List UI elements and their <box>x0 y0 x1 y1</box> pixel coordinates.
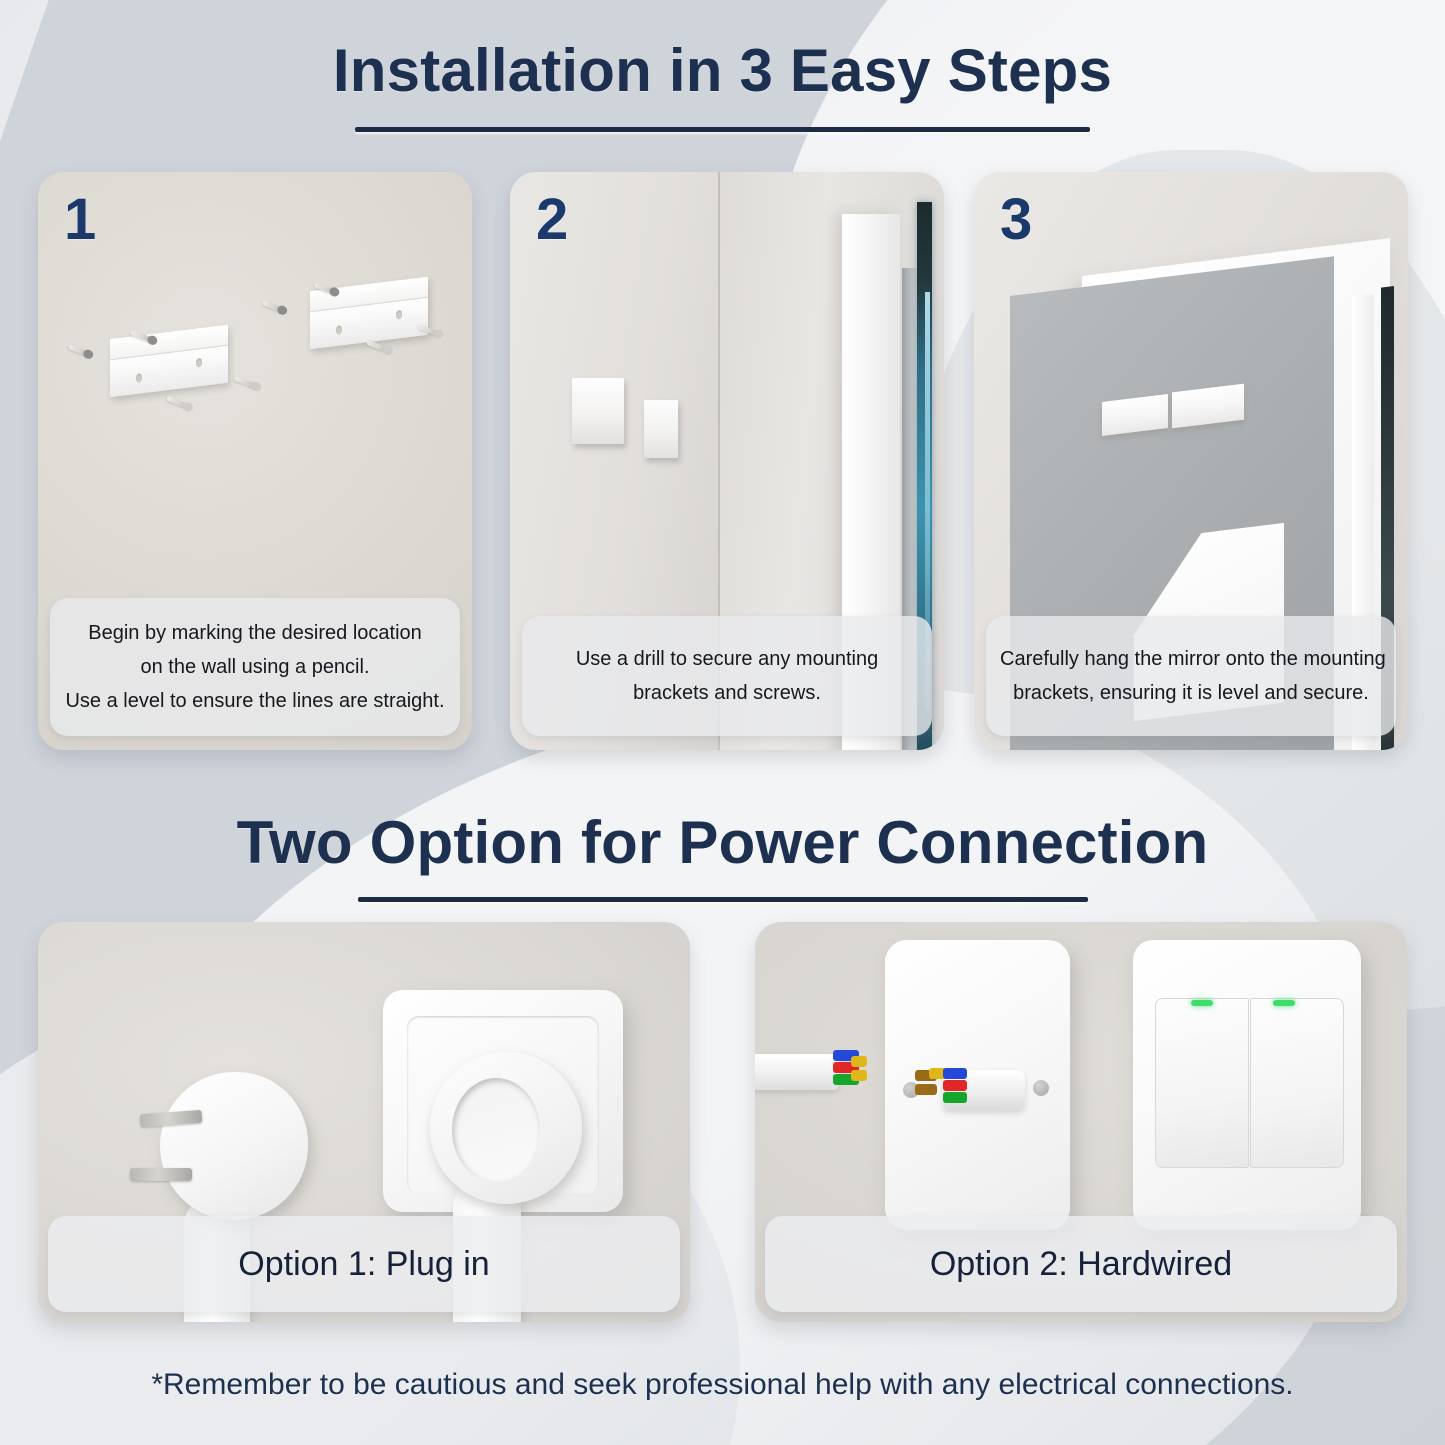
incoming-cable-wires <box>833 1050 863 1092</box>
incoming-cable-sheath <box>755 1054 839 1090</box>
switch-indicator-led-left <box>1191 1000 1213 1006</box>
power-plug <box>160 1072 308 1220</box>
power-title: Two Option for Power Connection <box>0 808 1445 877</box>
junction-box-wires <box>915 1068 945 1110</box>
footer-disclaimer: *Remember to be cautious and seek profes… <box>0 1368 1445 1402</box>
bracket-hole <box>336 325 342 335</box>
step-3-caption-line-1: Carefully hang the mirror onto the mount… <box>1000 642 1382 676</box>
step-2-caption-line-2: brackets and screws. <box>536 676 918 710</box>
step-number-2: 2 <box>536 186 568 253</box>
step-2-caption-line-1: Use a drill to secure any mounting <box>536 642 918 676</box>
option-1-caption-text: Option 1: Plug in <box>238 1245 489 1284</box>
wire-red <box>943 1080 967 1091</box>
step-2-caption: Use a drill to secure any mounting brack… <box>522 616 932 736</box>
step-1-caption-line-3: Use a level to ensure the lines are stra… <box>64 684 446 718</box>
light-switch-rocker-left[interactable] <box>1155 998 1249 1168</box>
step-1-caption: Begin by marking the desired location on… <box>50 598 460 736</box>
wire-yellow <box>851 1070 867 1081</box>
step-card-2: 2 Use a drill to secure any mounting bra… <box>510 172 944 750</box>
power-option-card-1: Option 1: Plug in <box>38 922 690 1322</box>
junction-box-screw-right <box>1033 1080 1049 1096</box>
power-title-divider <box>358 897 1088 902</box>
wire-blue <box>943 1068 967 1079</box>
option-2-caption: Option 2: Hardwired <box>765 1216 1397 1312</box>
power-section-header: Two Option for Power Connection <box>0 808 1445 902</box>
step-number-1: 1 <box>64 186 96 253</box>
wire-brown <box>915 1084 937 1095</box>
step-card-3: 3 Carefully hang the mirror onto the mou… <box>974 172 1408 750</box>
step-1-caption-line-1: Begin by marking the desired location <box>64 616 446 650</box>
bracket-hole <box>196 358 202 368</box>
step-number-3: 3 <box>1000 186 1032 253</box>
bracket-hole <box>396 310 402 320</box>
wire-yellow <box>851 1056 867 1067</box>
step-1-caption-line-2: on the wall using a pencil. <box>64 650 446 684</box>
wall-bracket-2 <box>644 400 678 458</box>
steps-title-divider <box>355 127 1090 132</box>
plug-prong-bottom <box>130 1168 192 1181</box>
switch-indicator-led-right <box>1273 1000 1295 1006</box>
option-2-caption-text: Option 2: Hardwired <box>930 1245 1232 1284</box>
power-option-card-2: Option 2: Hardwired <box>755 922 1407 1322</box>
light-switch-rocker-right[interactable] <box>1250 998 1344 1168</box>
infographic-page: Installation in 3 Easy Steps <box>0 0 1445 1445</box>
option-1-caption: Option 1: Plug in <box>48 1216 680 1312</box>
bracket-hole <box>136 373 142 383</box>
outlet-socket <box>430 1052 582 1204</box>
wall-bracket-1 <box>572 378 624 444</box>
light-switch[interactable] <box>1133 940 1361 1230</box>
steps-title: Installation in 3 Easy Steps <box>0 36 1445 105</box>
wire-green <box>943 1092 967 1103</box>
steps-section-header: Installation in 3 Easy Steps <box>0 36 1445 132</box>
step-3-caption-line-2: brackets, ensuring it is level and secur… <box>1000 676 1382 710</box>
step-3-caption: Carefully hang the mirror onto the mount… <box>986 616 1396 736</box>
step-card-1: 1 Begin by marking the desired location … <box>38 172 472 750</box>
